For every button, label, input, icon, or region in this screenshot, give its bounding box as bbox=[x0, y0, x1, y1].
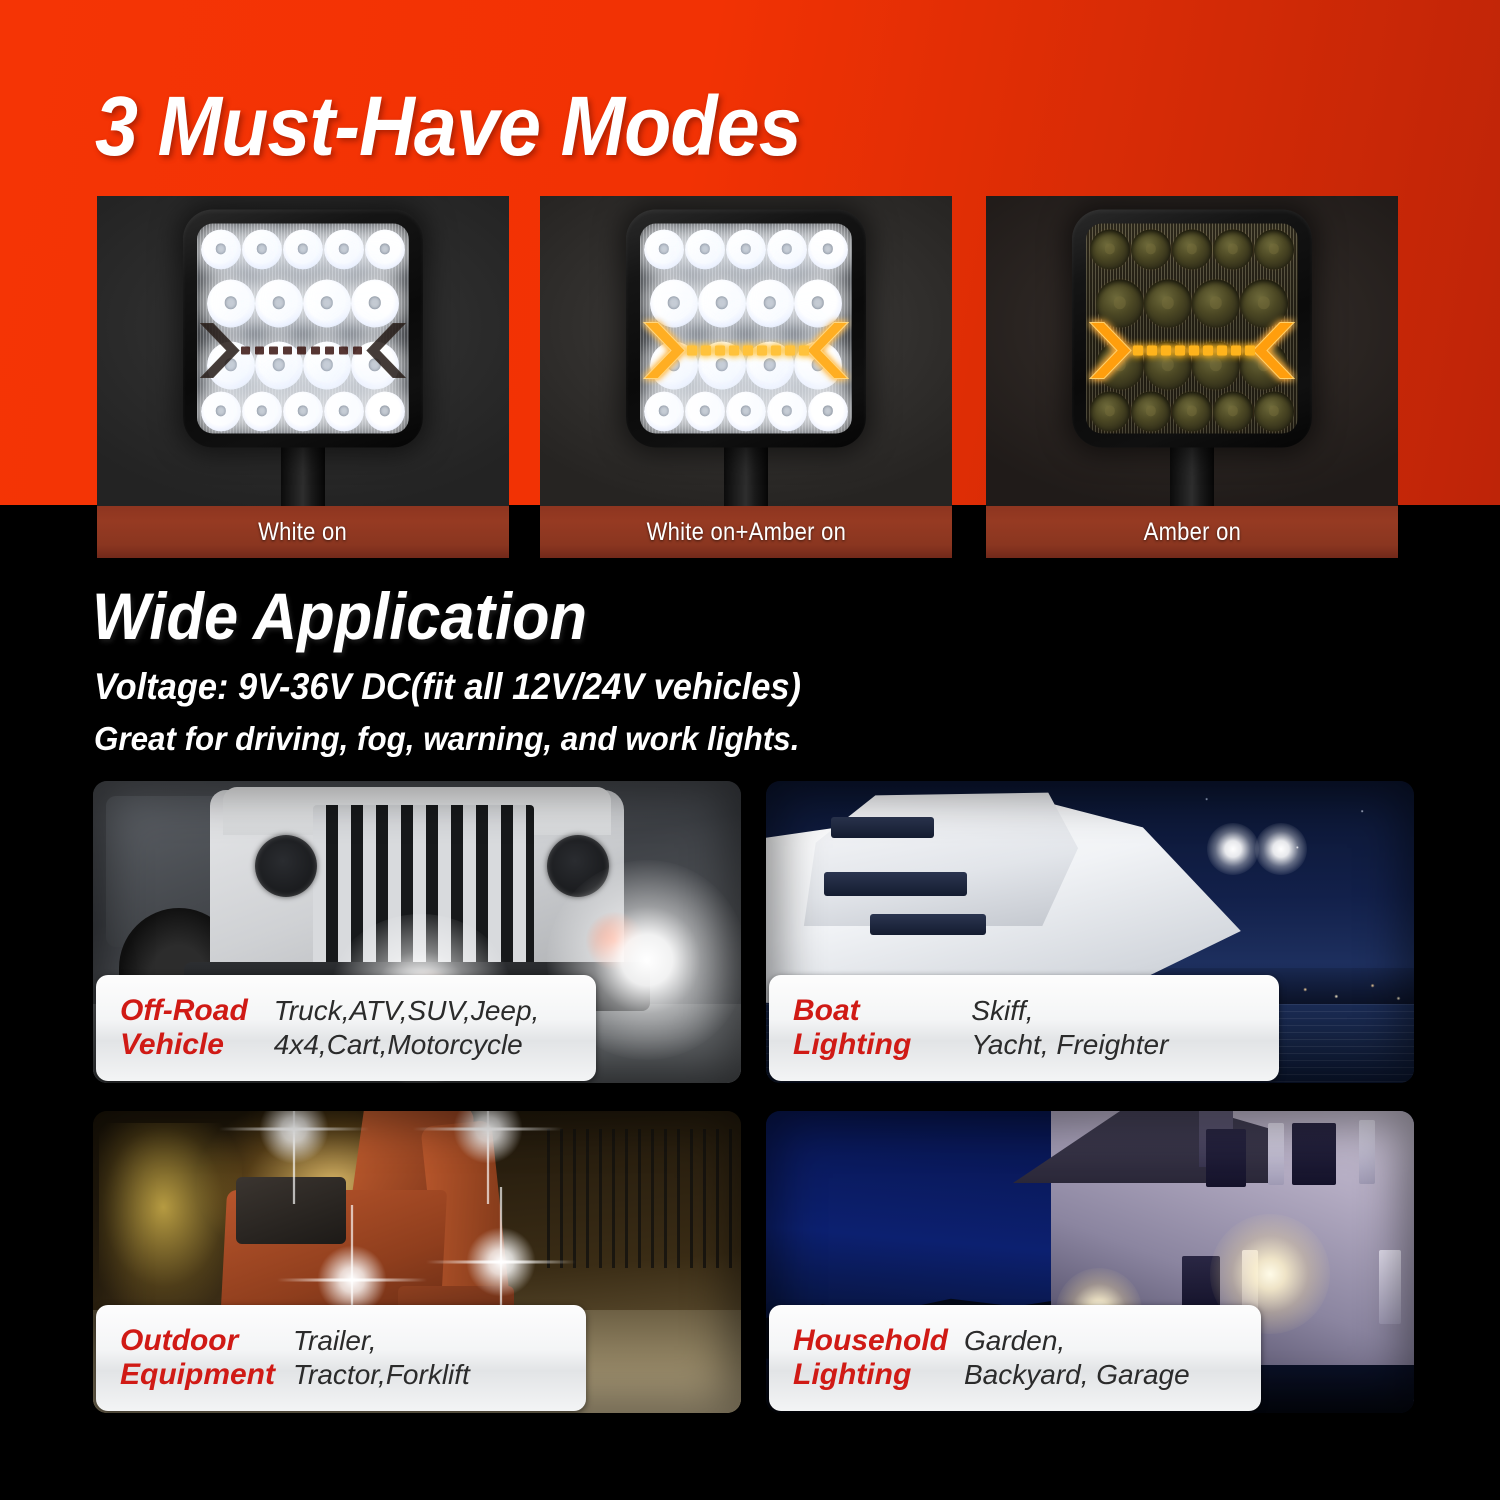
jeep-headlamp-left bbox=[255, 835, 317, 897]
led-bulb bbox=[242, 230, 282, 270]
led-bulb bbox=[242, 392, 282, 432]
house-window bbox=[1292, 1123, 1336, 1185]
led-bulb bbox=[1090, 392, 1130, 432]
led-lamp-white-amber-on bbox=[626, 210, 866, 472]
led-bulb bbox=[726, 230, 766, 270]
amber-arrow-strip-on bbox=[1086, 320, 1298, 382]
led-bulb bbox=[1254, 392, 1294, 432]
label-card-off-road-vehicle: Off-Road Vehicle Truck,ATV,SUV,Jeep, 4x4… bbox=[96, 975, 596, 1081]
title-line-2: Lighting bbox=[793, 1358, 948, 1392]
title-line-1: Boat bbox=[793, 994, 911, 1028]
lamp-mounting-bracket bbox=[724, 438, 768, 506]
voltage-spec-text: Voltage: 9V-36V DC(fit all 12V/24V vehic… bbox=[94, 666, 801, 708]
label-card-title: Outdoor Equipment bbox=[120, 1324, 275, 1391]
label-card-title: Household Lighting bbox=[793, 1324, 948, 1391]
led-bulb bbox=[1090, 230, 1130, 270]
label-card-outdoor-equipment: Outdoor Equipment Trailer, Tractor,Forkl… bbox=[96, 1305, 586, 1411]
title-line-2: Lighting bbox=[793, 1028, 911, 1062]
window-shutter bbox=[1359, 1120, 1375, 1184]
window-shutter bbox=[1268, 1123, 1284, 1185]
led-row-top bbox=[197, 230, 409, 270]
led-bulb bbox=[1213, 392, 1253, 432]
desc-line-2: 4x4,Cart,Motorcycle bbox=[274, 1028, 540, 1062]
mode-photo-amber-on bbox=[986, 196, 1398, 506]
led-bulb bbox=[324, 392, 364, 432]
lamp-housing bbox=[1072, 210, 1312, 448]
led-bulb bbox=[283, 230, 323, 270]
application-grid: Off-Road Vehicle Truck,ATV,SUV,Jeep, 4x4… bbox=[0, 781, 1500, 1441]
mode-panel-amber-on: Amber on bbox=[986, 196, 1398, 558]
wide-application-title: Wide Application bbox=[92, 578, 587, 654]
led-lamp-white-on bbox=[183, 210, 423, 472]
title-line-1: Off-Road bbox=[120, 994, 248, 1028]
house-window bbox=[1206, 1129, 1246, 1187]
led-bulb bbox=[808, 392, 848, 432]
label-card-description: Trailer, Tractor,Forklift bbox=[293, 1324, 470, 1391]
application-card-boat-lighting: Boat Lighting Skiff, Yacht, Freighter bbox=[766, 781, 1414, 1083]
mode-caption-label: White on+Amber on bbox=[646, 518, 846, 547]
application-card-off-road-vehicle: Off-Road Vehicle Truck,ATV,SUV,Jeep, 4x4… bbox=[93, 781, 741, 1083]
led-row-bottom bbox=[197, 392, 409, 432]
title-line-2: Equipment bbox=[120, 1358, 275, 1392]
product-infographic: 3 Must-Have Modes bbox=[0, 0, 1500, 1500]
led-bulb bbox=[726, 392, 766, 432]
title-line-1: Household bbox=[793, 1324, 948, 1358]
amber-arrow-strip-off bbox=[197, 320, 409, 382]
led-bulb bbox=[201, 392, 241, 432]
led-row-top bbox=[640, 230, 852, 270]
desc-line-1: Garden, bbox=[964, 1324, 1190, 1358]
led-bulb bbox=[1131, 230, 1171, 270]
label-card-description: Truck,ATV,SUV,Jeep, 4x4,Cart,Motorcycle bbox=[274, 994, 540, 1061]
mode-panel-white-on: White on bbox=[97, 196, 509, 558]
mode-caption-white-amber-on: White on+Amber on bbox=[540, 506, 952, 558]
led-bulb bbox=[685, 230, 725, 270]
led-bulb bbox=[1172, 230, 1212, 270]
label-card-boat-lighting: Boat Lighting Skiff, Yacht, Freighter bbox=[769, 975, 1279, 1081]
mode-caption-white-on: White on bbox=[97, 506, 509, 558]
mode-photo-white-amber-on bbox=[540, 196, 952, 506]
led-bulb bbox=[324, 230, 364, 270]
fence bbox=[547, 1129, 741, 1268]
led-bulb bbox=[644, 392, 684, 432]
led-row-bottom bbox=[640, 392, 852, 432]
title-line-1: Outdoor bbox=[120, 1324, 275, 1358]
mode-photo-white-on bbox=[97, 196, 509, 506]
mode-caption-label: Amber on bbox=[1143, 518, 1241, 547]
lamp-mounting-bracket bbox=[1170, 438, 1214, 506]
led-row-bottom bbox=[1086, 392, 1298, 432]
usage-tagline-text: Great for driving, fog, warning, and wor… bbox=[94, 720, 799, 758]
lamp-housing bbox=[183, 210, 423, 448]
led-bulb bbox=[283, 392, 323, 432]
application-card-outdoor-equipment: Outdoor Equipment Trailer, Tractor,Forkl… bbox=[93, 1111, 741, 1413]
lamp-housing bbox=[626, 210, 866, 448]
excavator-cab bbox=[236, 1177, 346, 1243]
yacht-deck-lights bbox=[1207, 823, 1337, 881]
led-row-top bbox=[1086, 230, 1298, 270]
page-title: 3 Must-Have Modes bbox=[95, 78, 801, 175]
label-card-description: Garden, Backyard, Garage bbox=[964, 1324, 1190, 1391]
mode-caption-label: White on bbox=[259, 518, 348, 547]
desc-line-1: Trailer, bbox=[293, 1324, 470, 1358]
led-bulb bbox=[1131, 392, 1171, 432]
lamp-lens bbox=[197, 224, 409, 434]
led-bulb bbox=[201, 230, 241, 270]
led-lamp-amber-on bbox=[1072, 210, 1312, 472]
label-card-description: Skiff, Yacht, Freighter bbox=[971, 994, 1168, 1061]
led-bulb bbox=[1213, 230, 1253, 270]
modes-row: White on bbox=[0, 196, 1500, 558]
application-card-household-lighting: Household Lighting Garden, Backyard, Gar… bbox=[766, 1111, 1414, 1413]
desc-line-1: Skiff, bbox=[971, 994, 1168, 1028]
mode-caption-amber-on: Amber on bbox=[986, 506, 1398, 558]
led-bulb bbox=[767, 392, 807, 432]
led-bulb bbox=[1172, 392, 1212, 432]
deck-light bbox=[1207, 823, 1259, 875]
led-bulb bbox=[365, 230, 405, 270]
title-line-2: Vehicle bbox=[120, 1028, 248, 1062]
led-bulb bbox=[644, 230, 684, 270]
led-bulb bbox=[1254, 230, 1294, 270]
yacht-window bbox=[870, 914, 987, 935]
label-card-household-lighting: Household Lighting Garden, Backyard, Gar… bbox=[769, 1305, 1261, 1411]
yacht-window bbox=[824, 872, 967, 896]
desc-line-2: Tractor,Forklift bbox=[293, 1358, 470, 1392]
deck-light bbox=[1255, 823, 1307, 875]
led-bulb bbox=[365, 392, 405, 432]
desc-line-2: Yacht, Freighter bbox=[971, 1028, 1168, 1062]
yacht-window bbox=[831, 817, 935, 838]
amber-arrow-strip-on bbox=[640, 320, 852, 382]
desc-line-1: Truck,ATV,SUV,Jeep, bbox=[274, 994, 540, 1028]
desc-line-2: Backyard, Garage bbox=[964, 1358, 1190, 1392]
door-panel bbox=[1379, 1250, 1401, 1324]
mode-panel-white-amber-on: White on+Amber on bbox=[540, 196, 952, 558]
lamp-lens bbox=[1086, 224, 1298, 434]
lamp-lens bbox=[640, 224, 852, 434]
label-card-title: Boat Lighting bbox=[793, 994, 911, 1061]
led-bulb bbox=[808, 230, 848, 270]
led-bulb bbox=[685, 392, 725, 432]
lamp-mounting-bracket bbox=[281, 438, 325, 506]
label-card-title: Off-Road Vehicle bbox=[120, 994, 248, 1061]
led-bulb bbox=[767, 230, 807, 270]
